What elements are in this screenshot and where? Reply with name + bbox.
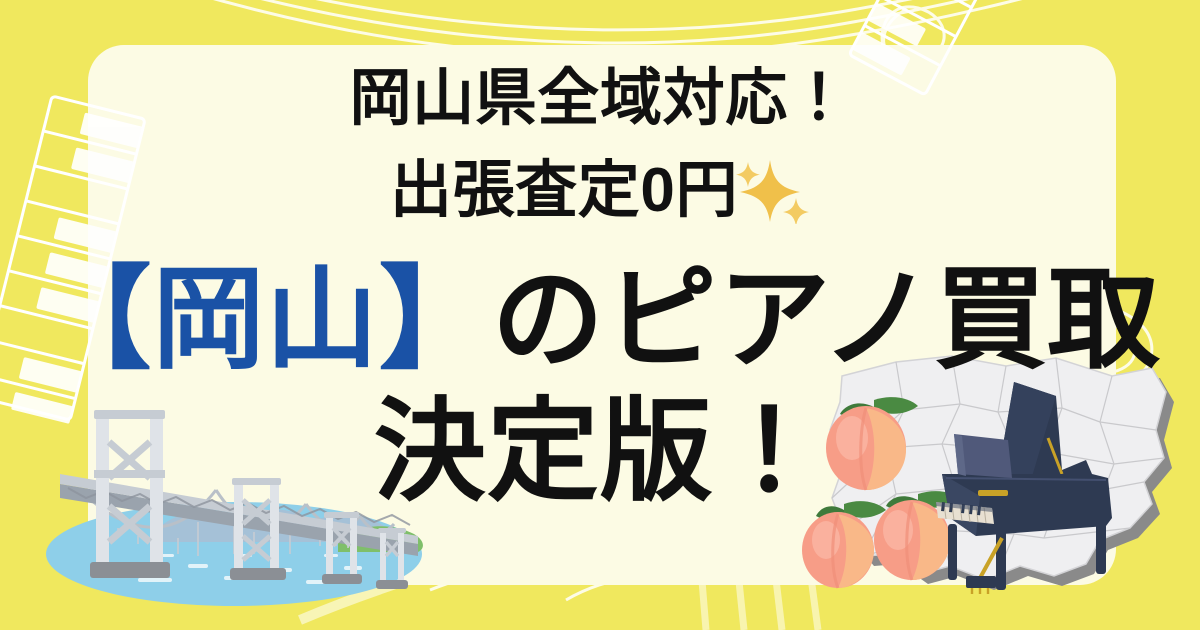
- subheadline-line-1: 岡山県全域対応！: [0, 66, 1200, 132]
- main-headline-line-1: 【岡山】のピアノ買取: [0, 262, 1200, 378]
- main-headline-line-2: 決定版！: [0, 394, 1200, 510]
- subheadline-line-2-text: 出張査定0円: [390, 158, 738, 224]
- headline-block: 岡山県全域対応！ 出張査定0円 【岡山】のピアノ買取 決定版！: [0, 0, 1200, 630]
- prefecture-bracket-text: 【岡山】: [39, 257, 491, 382]
- sparkles-icon: [736, 158, 810, 224]
- subheadline-line-2: 出張査定0円: [0, 158, 1200, 224]
- main-headline-line-1-rest: のピアノ買取: [492, 257, 1161, 382]
- banner-canvas: 岡山県全域対応！ 出張査定0円 【岡山】のピアノ買取 決定版！: [0, 0, 1200, 630]
